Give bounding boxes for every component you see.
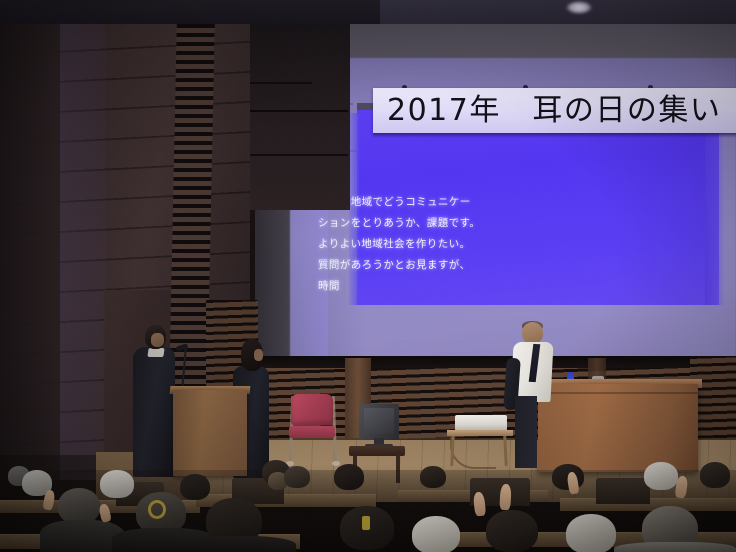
head-table-edge — [538, 392, 698, 394]
red-chair-seat — [289, 426, 335, 438]
caption-line-3: よりよい地域社会を作りたい。 — [318, 234, 618, 255]
man-at-table-trousers — [515, 396, 537, 468]
audience-head — [644, 462, 678, 490]
yellow-bottle-object — [362, 516, 370, 530]
chair-caster-right — [332, 461, 340, 466]
audience-head — [566, 514, 616, 552]
audience-shoulders — [614, 542, 736, 552]
speaker-body — [133, 347, 175, 477]
audience-head — [700, 462, 730, 488]
audience-head — [334, 464, 364, 490]
audience-shoulders — [176, 536, 296, 552]
lectern — [173, 390, 247, 476]
banner-drop-shadow — [373, 133, 736, 138]
left-wall-dark-column — [0, 24, 60, 480]
head-table — [538, 384, 698, 472]
audience-head — [58, 488, 100, 524]
red-chair-back — [291, 394, 333, 425]
yellow-ring-object — [148, 500, 166, 519]
raised-hand — [499, 484, 511, 511]
event-banner: 2017年 耳の日の集い — [373, 88, 736, 133]
speaker-face — [151, 333, 164, 347]
seat-back-3 — [596, 478, 650, 504]
caption-line-4: 質問があろうかとお見ますが、 — [318, 255, 618, 276]
auditorium-photo: いる。地域でどうコミュニケー ションをとりあうか、課題です。 よりよい地域社会を… — [0, 0, 736, 552]
event-banner-title: 2017年 耳の日の集い — [387, 90, 721, 132]
audience-head — [180, 474, 210, 500]
audience-head — [420, 466, 446, 488]
stage-monitor-screen — [364, 408, 394, 434]
projected-caption-block: いる。地域でどうコミュニケー ションをとりあうか、課題です。 よりよい地域社会を… — [318, 192, 618, 297]
audience-head — [486, 510, 538, 552]
caption-line-5: 時間 — [318, 276, 618, 297]
left-wall-light-column — [60, 24, 106, 480]
slide-right-edge — [705, 110, 725, 305]
audience-head — [412, 516, 460, 552]
audience-head — [100, 470, 134, 498]
ceiling-downlight-icon — [566, 1, 592, 14]
caption-line-1: いる。地域でどうコミュニケー — [318, 192, 618, 213]
caption-line-2: ションをとりあうか、課題です。 — [318, 213, 618, 234]
projector-device — [455, 415, 507, 431]
interpreter-face — [254, 349, 263, 361]
man-at-table-head — [522, 322, 543, 344]
stage-back-top-shadow — [255, 356, 736, 368]
audience-head — [284, 466, 310, 488]
speaker-collar — [147, 348, 164, 357]
